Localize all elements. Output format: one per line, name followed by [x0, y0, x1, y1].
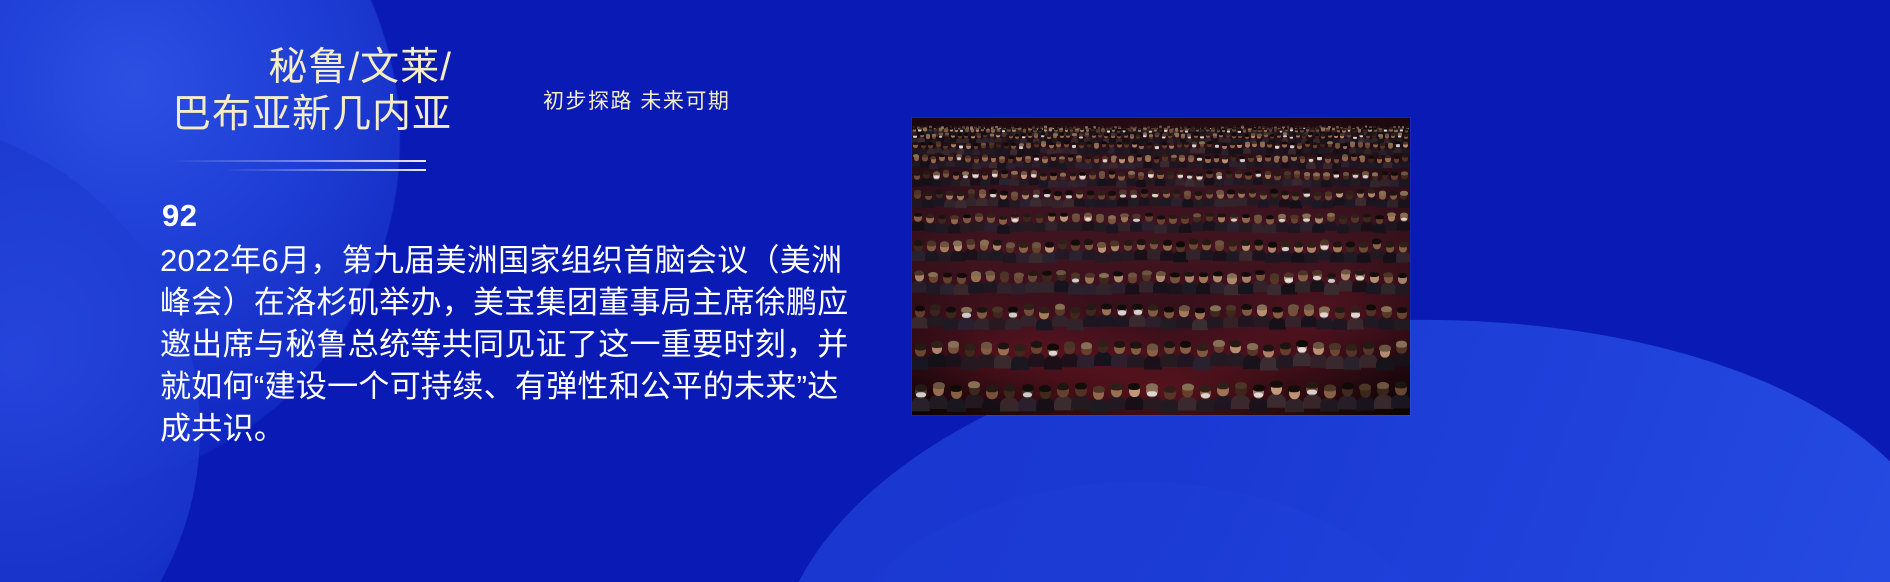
title-line-2: 巴布亚新几内亚: [162, 91, 452, 138]
title-underline-group: [176, 160, 426, 178]
title-underline-primary: [176, 160, 426, 162]
audience-photo: [912, 118, 1410, 415]
body-paragraph: 2022年6月，第九届美洲国家组织首脑会议（美洲峰会）在洛杉矶举办，美宝集团董事…: [160, 240, 860, 450]
slide-title: 秘鲁/文莱/ 巴布亚新几内亚: [162, 44, 452, 138]
slide-number: 92: [162, 198, 197, 234]
slide-content: 秘鲁/文莱/ 巴布亚新几内亚 初步探路 未来可期 92 2022年6月，第九届美…: [0, 0, 1890, 582]
title-underline-secondary: [228, 169, 426, 171]
presentation-slide: 秘鲁/文莱/ 巴布亚新几内亚 初步探路 未来可期 92 2022年6月，第九届美…: [0, 0, 1890, 582]
title-line-1: 秘鲁/文莱/: [162, 44, 452, 91]
slide-subtitle: 初步探路 未来可期: [543, 85, 730, 115]
